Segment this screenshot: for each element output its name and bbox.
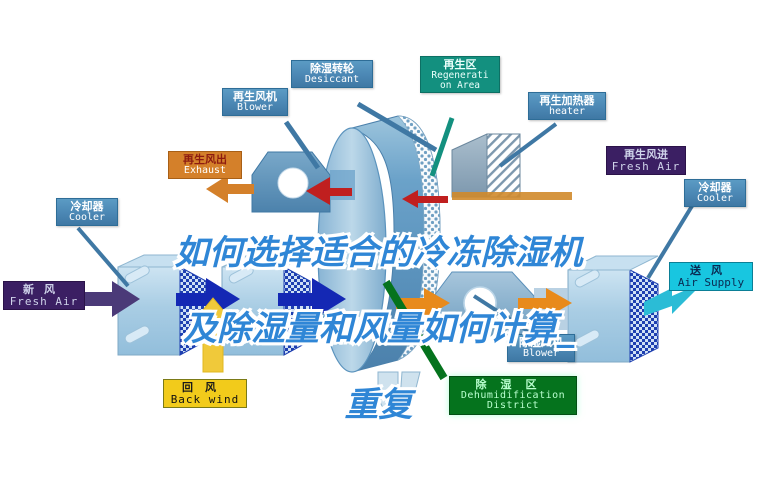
overlay-title-line-2: 及除湿量和风量如何计算_	[0, 310, 757, 348]
label-regen-air-in-en: Fresh Air	[611, 161, 681, 173]
overlay-title-line-1: 如何选择适合的冷冻除湿机	[0, 234, 757, 272]
label-regen-air-in[interactable]: 再生风进 Fresh Air	[606, 146, 686, 175]
label-desiccant-wheel-en: Desiccant	[296, 75, 368, 86]
label-regen-air-out-cn: 再生风出	[173, 154, 237, 166]
label-regen-heater-cn: 再生加热器	[533, 95, 601, 107]
label-regen-blower[interactable]: 再生风机 Blower	[222, 88, 288, 116]
regen-heater-box	[452, 134, 572, 200]
label-regen-blower-en: Blower	[227, 103, 283, 114]
label-regeneration-area[interactable]: 再生区 Regenerati on Area	[420, 56, 500, 93]
label-desiccant-wheel[interactable]: 除湿转轮 Desiccant	[291, 60, 373, 88]
label-regen-heater-en: heater	[533, 107, 601, 118]
label-cooler-right-cn: 冷却器	[689, 182, 741, 194]
label-regeneration-area-en2: on Area	[425, 81, 495, 91]
overlay-title: 如何选择适合的冷冻除湿机 及除湿量和风量如何计算_ 重复	[0, 196, 757, 462]
label-regen-air-out[interactable]: 再生风出 Exhaust	[168, 151, 242, 179]
overlay-title-line-3: 重复	[0, 386, 757, 424]
diagram-canvas: XTSJ	[0, 0, 757, 488]
label-regen-air-in-cn: 再生风进	[611, 149, 681, 161]
label-regeneration-area-cn: 再生区	[425, 59, 495, 71]
label-regen-heater[interactable]: 再生加热器 heater	[528, 92, 606, 120]
label-regen-blower-cn: 再生风机	[227, 91, 283, 103]
label-desiccant-wheel-cn: 除湿转轮	[296, 63, 368, 75]
label-regen-air-out-en: Exhaust	[173, 166, 237, 177]
